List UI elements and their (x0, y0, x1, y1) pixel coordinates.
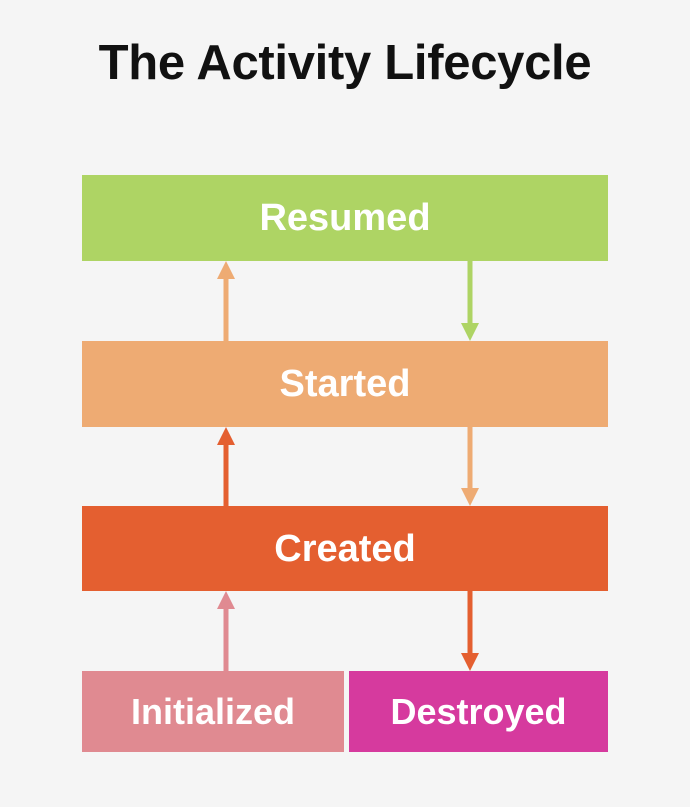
arrow-down-resumed-to-started-icon (454, 260, 486, 342)
state-label-started: Started (280, 365, 411, 403)
state-label-created: Created (274, 530, 416, 568)
arrow-up-initialized-to-created-icon (210, 590, 242, 672)
page-title: The Activity Lifecycle (0, 32, 690, 94)
state-label-initialized: Initialized (131, 694, 295, 730)
state-box-destroyed[interactable]: Destroyed (349, 671, 608, 752)
state-box-initialized[interactable]: Initialized (82, 671, 344, 752)
arrow-up-started-to-resumed-icon (210, 260, 242, 342)
state-label-destroyed: Destroyed (390, 694, 566, 730)
diagram-canvas: The Activity Lifecycle Resumed Started C… (0, 0, 690, 807)
arrow-down-started-to-created-icon (454, 426, 486, 507)
state-box-started[interactable]: Started (82, 341, 608, 427)
state-label-resumed: Resumed (259, 199, 430, 237)
arrow-up-created-to-started-icon (210, 426, 242, 507)
state-box-created[interactable]: Created (82, 506, 608, 591)
arrow-down-created-to-destroyed-icon (454, 590, 486, 672)
state-box-resumed[interactable]: Resumed (82, 175, 608, 261)
